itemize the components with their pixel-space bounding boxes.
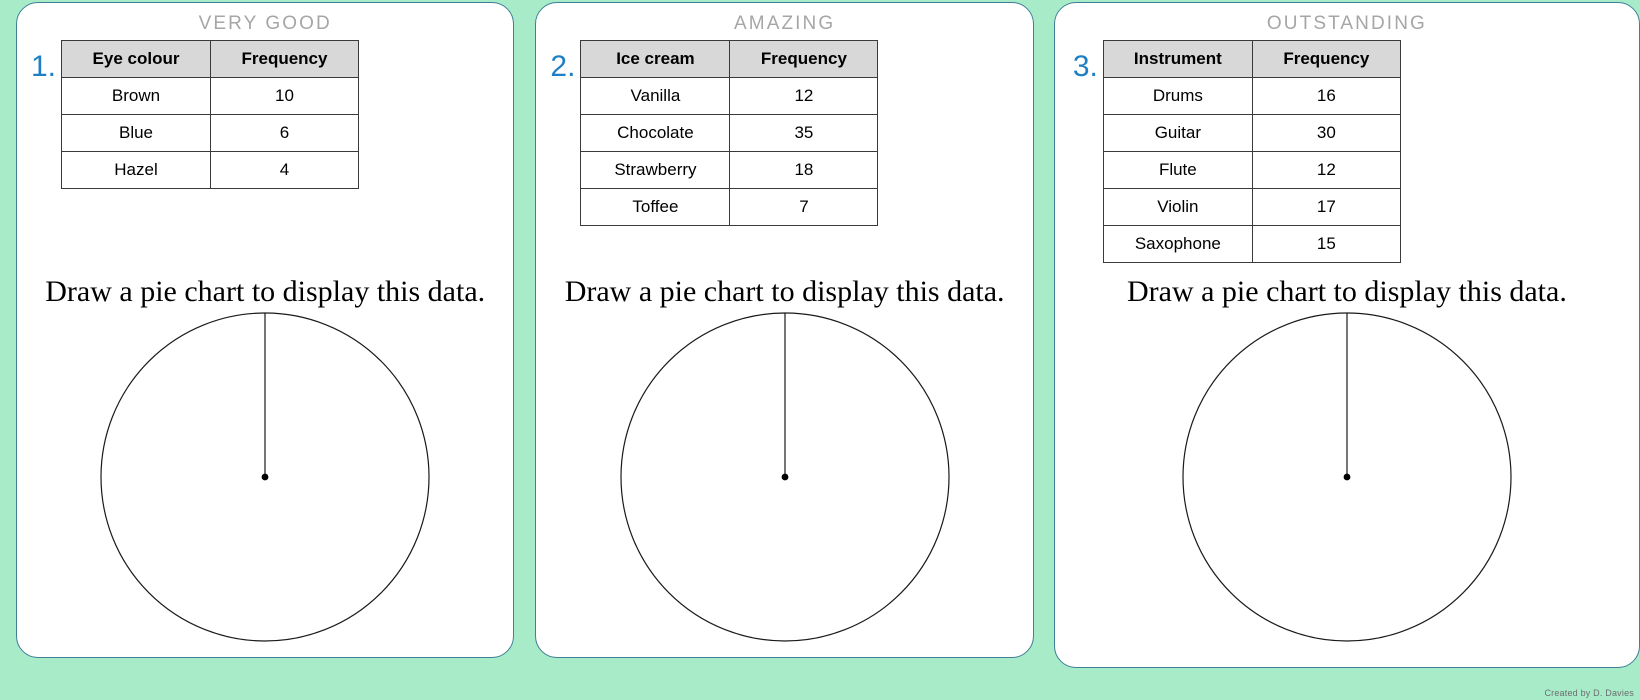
table-header-row: Ice cream Frequency: [581, 41, 878, 78]
table-header-category: Eye colour: [62, 41, 211, 78]
table-cell-category: Flute: [1103, 152, 1252, 189]
question-number-1: 1.: [17, 40, 61, 82]
table-cell-frequency: 15: [1252, 226, 1400, 263]
table-cell-frequency: 6: [211, 115, 359, 152]
table-cell-category: Strawberry: [581, 152, 730, 189]
table-row: Strawberry 18: [581, 152, 878, 189]
table-cell-category: Hazel: [62, 152, 211, 189]
pie-circle-area-1: [17, 307, 513, 647]
table-row: Vanilla 12: [581, 78, 878, 115]
award-label-3: OUTSTANDING: [1055, 3, 1639, 33]
pie-centre-dot: [262, 474, 269, 481]
question-panel-3: OUTSTANDING 3. Instrument Frequency Drum…: [1054, 2, 1640, 668]
pie-centre-dot: [1344, 474, 1351, 481]
frequency-table-2: Ice cream Frequency Vanilla 12 Chocolate…: [580, 40, 878, 226]
table-row: Hazel 4: [62, 152, 359, 189]
table-header-row: Eye colour Frequency: [62, 41, 359, 78]
table-cell-frequency: 7: [730, 189, 878, 226]
instruction-text-2: Draw a pie chart to display this data.: [536, 277, 1032, 307]
question-row-2: 2. Ice cream Frequency Vanilla 12 Chocol…: [536, 40, 1032, 226]
table-cell-frequency: 35: [730, 115, 878, 152]
table-cell-category: Toffee: [581, 189, 730, 226]
worksheet-board: VERY GOOD 1. Eye colour Frequency Brown …: [0, 0, 1640, 700]
table-cell-category: Blue: [62, 115, 211, 152]
table-cell-frequency: 17: [1252, 189, 1400, 226]
table-cell-category: Brown: [62, 78, 211, 115]
table-row: Brown 10: [62, 78, 359, 115]
blank-pie-circle-2[interactable]: [615, 307, 955, 647]
question-number-2: 2.: [536, 40, 580, 82]
table-cell-frequency: 12: [730, 78, 878, 115]
frequency-table-1: Eye colour Frequency Brown 10 Blue 6 Haz…: [61, 40, 359, 189]
award-label-1: VERY GOOD: [17, 3, 513, 33]
table-cell-category: Guitar: [1103, 115, 1252, 152]
pie-circle-area-2: [536, 307, 1032, 647]
table-header-frequency: Frequency: [1252, 41, 1400, 78]
question-panel-1: VERY GOOD 1. Eye colour Frequency Brown …: [16, 2, 514, 658]
table-header-category: Ice cream: [581, 41, 730, 78]
table-header-frequency: Frequency: [730, 41, 878, 78]
question-number-3: 3.: [1055, 40, 1103, 82]
award-label-2: AMAZING: [536, 3, 1032, 33]
table-cell-frequency: 18: [730, 152, 878, 189]
table-cell-frequency: 30: [1252, 115, 1400, 152]
table-row: Saxophone 15: [1103, 226, 1400, 263]
pie-centre-dot: [781, 474, 788, 481]
table-row: Drums 16: [1103, 78, 1400, 115]
table-row: Chocolate 35: [581, 115, 878, 152]
blank-pie-circle-3[interactable]: [1177, 307, 1517, 647]
table-row: Guitar 30: [1103, 115, 1400, 152]
table-cell-category: Vanilla: [581, 78, 730, 115]
table-row: Violin 17: [1103, 189, 1400, 226]
frequency-table-3: Instrument Frequency Drums 16 Guitar 30 …: [1103, 40, 1401, 263]
table-header-row: Instrument Frequency: [1103, 41, 1400, 78]
blank-pie-circle-1[interactable]: [95, 307, 435, 647]
table-header-category: Instrument: [1103, 41, 1252, 78]
table-cell-frequency: 16: [1252, 78, 1400, 115]
question-row-1: 1. Eye colour Frequency Brown 10 Blue: [17, 40, 513, 189]
credit-text: Created by D. Davies: [1544, 688, 1634, 698]
question-row-3: 3. Instrument Frequency Drums 16 Guitar: [1055, 40, 1639, 263]
pie-circle-area-3: [1055, 307, 1639, 647]
table-cell-category: Saxophone: [1103, 226, 1252, 263]
table-cell-frequency: 4: [211, 152, 359, 189]
table-cell-category: Chocolate: [581, 115, 730, 152]
table-header-frequency: Frequency: [211, 41, 359, 78]
instruction-text-3: Draw a pie chart to display this data.: [1055, 277, 1639, 307]
table-row: Blue 6: [62, 115, 359, 152]
question-panel-2: AMAZING 2. Ice cream Frequency Vanilla 1…: [535, 2, 1033, 658]
table-cell-frequency: 12: [1252, 152, 1400, 189]
table-row: Flute 12: [1103, 152, 1400, 189]
table-cell-category: Violin: [1103, 189, 1252, 226]
table-cell-category: Drums: [1103, 78, 1252, 115]
table-cell-frequency: 10: [211, 78, 359, 115]
table-row: Toffee 7: [581, 189, 878, 226]
instruction-text-1: Draw a pie chart to display this data.: [17, 277, 513, 307]
